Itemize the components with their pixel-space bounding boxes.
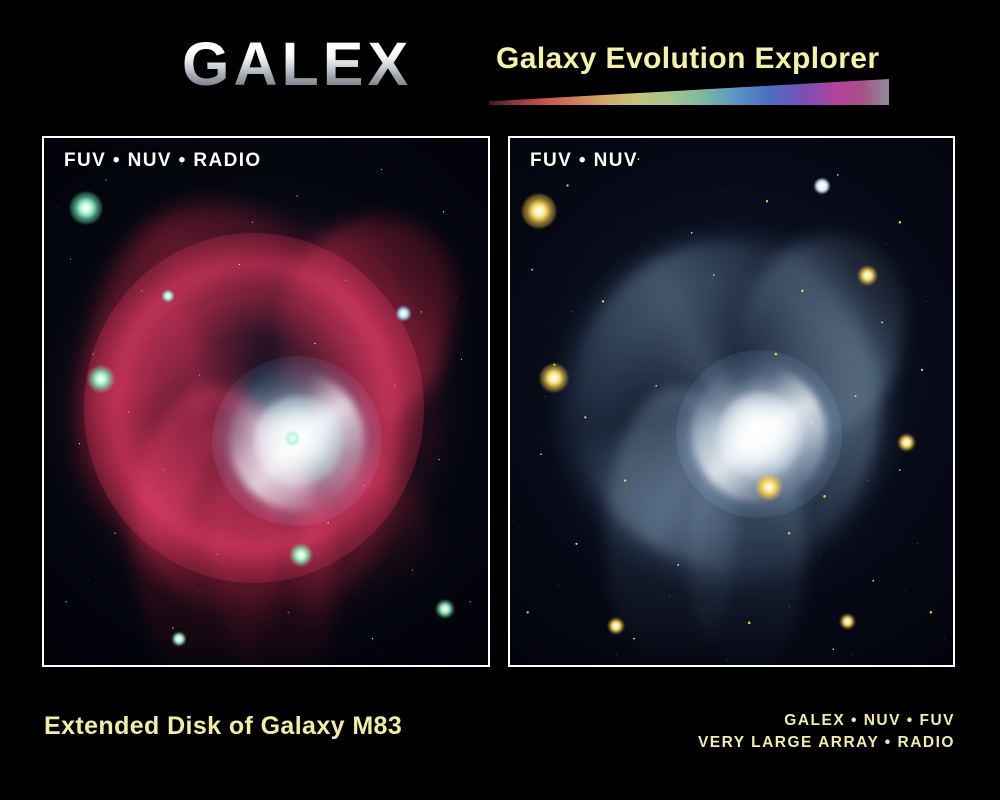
spectrum-gradient-wedge	[489, 79, 889, 105]
sky-field-right: FUV • NUV	[510, 138, 953, 665]
bright-star-gold-bottom-left	[608, 618, 624, 634]
bright-star-gold-upper-left	[522, 194, 556, 228]
starfield-green-fine	[44, 138, 488, 665]
bright-star-gold-bottom-right	[840, 614, 855, 629]
galex-wordmark: GALEX	[182, 33, 412, 95]
header-banner: GALEX Galaxy Evolution Explorer	[0, 0, 1000, 126]
bright-star-white-north	[814, 178, 830, 194]
bright-star-blue-upper-right	[396, 306, 411, 321]
bright-star-gold-upper-right	[858, 266, 877, 285]
image-panel-fuv-nuv: FUV • NUV	[508, 136, 955, 667]
bright-star-gold-right	[898, 434, 915, 451]
credit-line-1: GALEX • NUV • FUV	[698, 710, 955, 732]
caption-title: Extended Disk of Galaxy M83	[44, 712, 402, 741]
bright-star-green-lower-right	[436, 600, 454, 618]
sky-field-left: FUV • NUV • RADIO	[44, 138, 488, 665]
bright-star-green-bottom-left	[172, 632, 186, 646]
bright-star-green-upper-left	[70, 192, 102, 224]
bright-star-green-mid-left	[88, 366, 114, 392]
panel-label-right: FUV • NUV	[530, 150, 638, 172]
mission-subtitle: Galaxy Evolution Explorer	[496, 42, 879, 76]
bright-star-gold-mid-left	[540, 364, 568, 392]
credits-block: GALEX • NUV • FUV VERY LARGE ARRAY • RAD…	[698, 710, 955, 754]
credit-line-2: VERY LARGE ARRAY • RADIO	[698, 732, 955, 754]
bright-star-green-north	[162, 290, 174, 302]
starfield-gold	[510, 138, 953, 665]
bright-star-green-center-south	[290, 544, 312, 566]
image-panel-fuv-nuv-radio: FUV • NUV • RADIO	[42, 136, 490, 667]
bright-star-gold-center-south	[756, 474, 782, 500]
panel-label-left: FUV • NUV • RADIO	[64, 150, 262, 172]
